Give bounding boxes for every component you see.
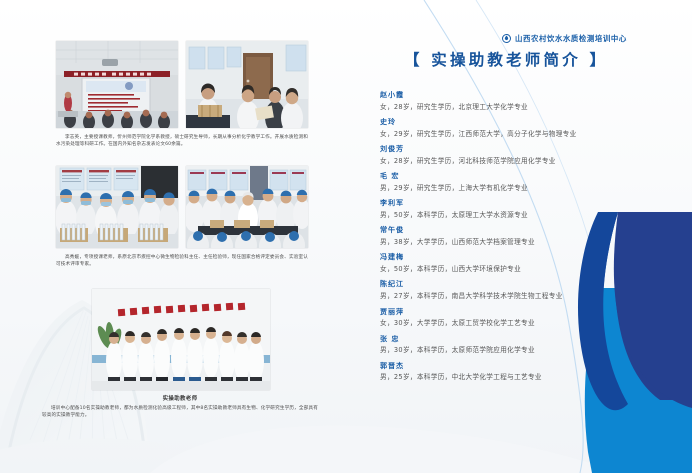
roster-entry: 常午俊男，38岁，大学学历，山西师范大学档案管理专业 xyxy=(380,223,692,249)
photo-group-training xyxy=(186,166,308,248)
roster-entry-detail: 女，50岁，本科学历，山西大学环境保护专业 xyxy=(380,264,692,276)
brand-lockup: 山西农村饮水水质检测培训中心 xyxy=(502,33,627,44)
roster-entry-detail: 男，38岁，大学学历，山西师范大学档案管理专业 xyxy=(380,237,692,249)
roster-entry-name: 赵小霞 xyxy=(380,88,692,102)
roster-entry-detail: 女，30岁，大学学历，太原工贸学校化学工艺专业 xyxy=(380,318,692,330)
teacher-roster-list: 赵小霞女，28岁，研究生学历，北京理工大学化学专业史玲女，29岁，研究生学历，江… xyxy=(380,88,692,386)
photo-team-group xyxy=(92,289,270,390)
roster-entry: 李利军男，50岁，本科学历，太原理工大学水资源专业 xyxy=(380,196,692,222)
roster-entry-name: 冯建梅 xyxy=(380,250,692,264)
roster-entry: 郭晋杰男，25岁，本科学历，中北大学化学工程与工艺专业 xyxy=(380,359,692,385)
roster-entry: 刘俊芳女，28岁，研究生学历，河北科技师范学院应用化学专业 xyxy=(380,142,692,168)
photo-lab-discussion xyxy=(186,41,308,128)
roster-entry-detail: 男，27岁，本科学历，南昌大学科学技术学院生物工程专业 xyxy=(380,291,692,303)
roster-entry-name: 毛 宏 xyxy=(380,169,692,183)
roster-entry-detail: 男，30岁，本科学历，太原师范学院应用化学专业 xyxy=(380,345,692,357)
photo-lab-practice xyxy=(56,166,178,248)
roster-entry: 冯建梅女，50岁，本科学历，山西大学环境保护专业 xyxy=(380,250,692,276)
roster-entry-detail: 男，29岁，研究生学历，上海大学有机化学专业 xyxy=(380,183,692,195)
roster-entry-name: 张 忠 xyxy=(380,332,692,346)
brochure-page: 李志英，主要授课教师，忻州师范学院化学系教授，硕士研究生导师，长期从事分析化学教… xyxy=(0,0,692,473)
group-caption-text: 培训中心配备10名实操助教老师，都为水质检测化验高级工程师，其中8名实操助教老师… xyxy=(42,406,318,418)
caption-li-zhiying: 李志英，主要授课教师，忻州师范学院化学系教授，硕士研究生导师，长期从事分析化学教… xyxy=(56,134,308,149)
roster-entry: 张 忠男，30岁，本科学历，太原师范学院应用化学专业 xyxy=(380,332,692,358)
roster-entry-detail: 女，28岁，研究生学历，北京理工大学化学专业 xyxy=(380,102,692,114)
water-drop-logo-icon xyxy=(502,34,511,43)
roster-entry-name: 刘俊芳 xyxy=(380,142,692,156)
roster-entry: 赵小霞女，28岁，研究生学历，北京理工大学化学专业 xyxy=(380,88,692,114)
roster-entry-name: 郭晋杰 xyxy=(380,359,692,373)
roster-entry-name: 陈纪江 xyxy=(380,277,692,291)
roster-entry-name: 常午俊 xyxy=(380,223,692,237)
roster-entry-name: 史玲 xyxy=(380,115,692,129)
caption-li-zhiying-text: 李志英，主要授课教师，忻州师范学院化学系教授，硕士研究生导师，长期从事分析化学教… xyxy=(56,135,308,147)
page-title: 【 实操助教老师简介 】 xyxy=(404,48,608,70)
photo-column: 李志英，主要授课教师，忻州师范学院化学系教授，硕士研究生导师，长期从事分析化学教… xyxy=(0,0,340,473)
brand-name: 山西农村饮水水质检测培训中心 xyxy=(515,33,627,44)
group-photo-title: 实操助教老师 xyxy=(120,394,240,402)
roster-entry-detail: 男，25岁，本科学历，中北大学化学工程与工艺专业 xyxy=(380,372,692,384)
roster-entry-detail: 女，29岁，研究生学历，江西师范大学，高分子化学与物理专业 xyxy=(380,129,692,141)
roster-entry: 贾丽萍女，30岁，大学学历，太原工贸学校化学工艺专业 xyxy=(380,305,692,331)
roster-entry-name: 贾丽萍 xyxy=(380,305,692,319)
group-caption: 培训中心配备10名实操助教老师，都为水质检测化验高级工程师，其中8名实操助教老师… xyxy=(42,405,318,420)
content-column: 山西农村饮水水质检测培训中心 【 实操助教老师简介 】 赵小霞女，28岁，研究生… xyxy=(372,0,692,473)
roster-entry: 陈纪江男，27岁，本科学历，南昌大学科学技术学院生物工程专业 xyxy=(380,277,692,303)
caption-gao-xiuyuan: 高秀媛，专项授课老师，系原北京市疾控中心微生物检验科主任、主任检验师，现任国家合… xyxy=(56,254,308,269)
roster-entry-detail: 女，28岁，研究生学历，河北科技师范学院应用化学专业 xyxy=(380,156,692,168)
roster-entry: 毛 宏男，29岁，研究生学历，上海大学有机化学专业 xyxy=(380,169,692,195)
photo-lecture-hall xyxy=(56,41,178,128)
roster-entry: 史玲女，29岁，研究生学历，江西师范大学，高分子化学与物理专业 xyxy=(380,115,692,141)
caption-gao-xiuyuan-text: 高秀媛，专项授课老师，系原北京市疾控中心微生物检验科主任、主任检验师，现任国家合… xyxy=(56,255,308,267)
roster-entry-detail: 男，50岁，本科学历，太原理工大学水资源专业 xyxy=(380,210,692,222)
roster-entry-name: 李利军 xyxy=(380,196,692,210)
